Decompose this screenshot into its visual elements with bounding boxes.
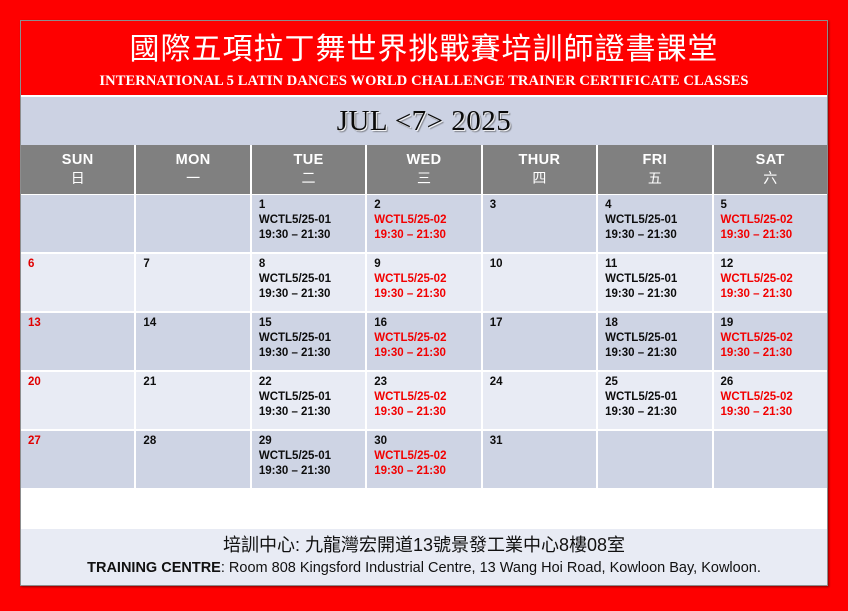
class-time: 19:30 – 21:30 [374, 228, 480, 243]
class-event[interactable]: WCTL5/25-0119:30 – 21:30 [605, 331, 711, 361]
class-event[interactable]: WCTL5/25-0219:30 – 21:30 [374, 449, 480, 479]
day-number: 27 [28, 434, 134, 449]
day-number: 23 [374, 375, 480, 390]
weekday-label-cn: 五 [648, 169, 662, 187]
class-time: 19:30 – 21:30 [374, 405, 480, 420]
calendar-weeks: 1WCTL5/25-0119:30 – 21:302WCTL5/25-0219:… [21, 195, 827, 490]
day-cell-13[interactable]: 13 [21, 313, 136, 372]
day-cell-10[interactable]: 10 [483, 254, 598, 313]
day-cell-23[interactable]: 23WCTL5/25-0219:30 – 21:30 [367, 372, 482, 431]
weekday-label-cn: 四 [532, 169, 546, 187]
day-cell-11[interactable]: 11WCTL5/25-0119:30 – 21:30 [598, 254, 713, 313]
calendar-week-row: 678WCTL5/25-0119:30 – 21:309WCTL5/25-021… [21, 254, 827, 313]
class-code: WCTL5/25-01 [605, 213, 711, 228]
day-cell-20[interactable]: 20 [21, 372, 136, 431]
day-number: 10 [490, 257, 596, 272]
day-cell-3[interactable]: 3 [483, 195, 598, 254]
day-cell-12[interactable]: 12WCTL5/25-0219:30 – 21:30 [714, 254, 827, 313]
day-cell-19[interactable]: 19WCTL5/25-0219:30 – 21:30 [714, 313, 827, 372]
day-number: 29 [259, 434, 365, 449]
day-cell-18[interactable]: 18WCTL5/25-0119:30 – 21:30 [598, 313, 713, 372]
day-number: 18 [605, 316, 711, 331]
day-number: 16 [374, 316, 480, 331]
weekday-label-cn: 日 [71, 169, 85, 187]
class-time: 19:30 – 21:30 [605, 346, 711, 361]
day-number: 21 [143, 375, 249, 390]
class-event[interactable]: WCTL5/25-0119:30 – 21:30 [605, 272, 711, 302]
day-cell-28[interactable]: 28 [136, 431, 251, 490]
day-cell-empty [21, 195, 136, 254]
day-number: 11 [605, 257, 711, 272]
day-number: 15 [259, 316, 365, 331]
weekday-header-wed: WED三 [367, 145, 482, 195]
day-number: 4 [605, 198, 711, 213]
month-label[interactable]: JUL <7> 2025 [337, 105, 512, 138]
day-number: 13 [28, 316, 134, 331]
class-event[interactable]: WCTL5/25-0219:30 – 21:30 [721, 331, 827, 361]
weekday-label-en: THUR [518, 152, 560, 169]
class-code: WCTL5/25-01 [259, 213, 365, 228]
day-cell-8[interactable]: 8WCTL5/25-0119:30 – 21:30 [252, 254, 367, 313]
calendar-week-row: 1WCTL5/25-0119:30 – 21:302WCTL5/25-0219:… [21, 195, 827, 254]
class-event[interactable]: WCTL5/25-0119:30 – 21:30 [259, 390, 365, 420]
class-code: WCTL5/25-02 [374, 390, 480, 405]
weekday-header-mon: MON一 [136, 145, 251, 195]
weekday-label-en: SUN [62, 152, 94, 169]
class-code: WCTL5/25-02 [374, 213, 480, 228]
class-event[interactable]: WCTL5/25-0119:30 – 21:30 [259, 449, 365, 479]
day-number: 14 [143, 316, 249, 331]
calendar-week-row: 131415WCTL5/25-0119:30 – 21:3016WCTL5/25… [21, 313, 827, 372]
class-time: 19:30 – 21:30 [374, 346, 480, 361]
class-code: WCTL5/25-01 [605, 331, 711, 346]
class-time: 19:30 – 21:30 [259, 405, 365, 420]
class-code: WCTL5/25-02 [721, 331, 827, 346]
weekday-header-fri: FRI五 [598, 145, 713, 195]
day-cell-4[interactable]: 4WCTL5/25-0119:30 – 21:30 [598, 195, 713, 254]
day-number: 25 [605, 375, 711, 390]
day-cell-24[interactable]: 24 [483, 372, 598, 431]
class-code: WCTL5/25-01 [605, 390, 711, 405]
calendar-week-row: 272829WCTL5/25-0119:30 – 21:3030WCTL5/25… [21, 431, 827, 490]
class-time: 19:30 – 21:30 [259, 464, 365, 479]
class-time: 19:30 – 21:30 [721, 346, 827, 361]
class-code: WCTL5/25-02 [721, 213, 827, 228]
poster-root: 國際五項拉丁舞世界挑戰賽培訓師證書課堂 INTERNATIONAL 5 LATI… [0, 0, 848, 611]
class-time: 19:30 – 21:30 [721, 287, 827, 302]
class-code: WCTL5/25-01 [259, 331, 365, 346]
footer: 培訓中心: 九龍灣宏開道13號景發工業中心8樓08室 TRAINING CENT… [21, 528, 827, 585]
day-number: 12 [721, 257, 827, 272]
day-number: 30 [374, 434, 480, 449]
class-event[interactable]: WCTL5/25-0119:30 – 21:30 [605, 390, 711, 420]
day-cell-25[interactable]: 25WCTL5/25-0119:30 – 21:30 [598, 372, 713, 431]
class-time: 19:30 – 21:30 [605, 405, 711, 420]
class-code: WCTL5/25-02 [374, 449, 480, 464]
banner-title-chinese: 國際五項拉丁舞世界挑戰賽培訓師證書課堂 [27, 31, 821, 69]
day-number: 17 [490, 316, 596, 331]
class-event[interactable]: WCTL5/25-0119:30 – 21:30 [605, 213, 711, 243]
weekday-label-cn: 三 [417, 169, 431, 187]
day-number: 24 [490, 375, 596, 390]
day-number: 1 [259, 198, 365, 213]
footer-address-english: TRAINING CENTRE: Room 808 Kingsford Indu… [27, 558, 821, 579]
day-number: 6 [28, 257, 134, 272]
footer-label: TRAINING CENTRE [87, 560, 221, 576]
day-cell-17[interactable]: 17 [483, 313, 598, 372]
weekday-label-en: MON [176, 152, 211, 169]
weekday-label-en: TUE [293, 152, 323, 169]
class-time: 19:30 – 21:30 [374, 464, 480, 479]
day-cell-31[interactable]: 31 [483, 431, 598, 490]
day-cell-22[interactable]: 22WCTL5/25-0119:30 – 21:30 [252, 372, 367, 431]
weekday-label-en: FRI [643, 152, 668, 169]
class-time: 19:30 – 21:30 [721, 405, 827, 420]
class-event[interactable]: WCTL5/25-0219:30 – 21:30 [374, 272, 480, 302]
weekday-header-thur: THUR四 [483, 145, 598, 195]
class-event[interactable]: WCTL5/25-0219:30 – 21:30 [374, 331, 480, 361]
weekday-header-row: SUN日MON一TUE二WED三THUR四FRI五SAT六 [21, 145, 827, 195]
class-code: WCTL5/25-02 [374, 272, 480, 287]
day-cell-26[interactable]: 26WCTL5/25-0219:30 – 21:30 [714, 372, 827, 431]
footer-address-text: : Room 808 Kingsford Industrial Centre, … [221, 560, 761, 576]
day-cell-7[interactable]: 7 [136, 254, 251, 313]
poster-inner-frame: 國際五項拉丁舞世界挑戰賽培訓師證書課堂 INTERNATIONAL 5 LATI… [20, 20, 828, 586]
weekday-header-tue: TUE二 [252, 145, 367, 195]
weekday-header-sat: SAT六 [714, 145, 827, 195]
class-event[interactable]: WCTL5/25-0219:30 – 21:30 [721, 272, 827, 302]
weekday-label-cn: 一 [186, 169, 200, 187]
day-number: 2 [374, 198, 480, 213]
day-cell-empty [714, 431, 827, 490]
month-band: JUL <7> 2025 [21, 95, 827, 145]
class-code: WCTL5/25-01 [259, 449, 365, 464]
class-time: 19:30 – 21:30 [259, 346, 365, 361]
banner-title-english: INTERNATIONAL 5 LATIN DANCES WORLD CHALL… [27, 71, 821, 91]
class-code: WCTL5/25-02 [721, 390, 827, 405]
day-cell-29[interactable]: 29WCTL5/25-0119:30 – 21:30 [252, 431, 367, 490]
day-cell-9[interactable]: 9WCTL5/25-0219:30 – 21:30 [367, 254, 482, 313]
day-number: 8 [259, 257, 365, 272]
class-code: WCTL5/25-01 [259, 390, 365, 405]
class-code: WCTL5/25-01 [605, 272, 711, 287]
class-event[interactable]: WCTL5/25-0219:30 – 21:30 [721, 213, 827, 243]
footer-address-chinese: 培訓中心: 九龍灣宏開道13號景發工業中心8樓08室 [27, 533, 821, 558]
class-event[interactable]: WCTL5/25-0219:30 – 21:30 [374, 213, 480, 243]
class-code: WCTL5/25-02 [721, 272, 827, 287]
weekday-label-en: SAT [756, 152, 785, 169]
class-time: 19:30 – 21:30 [259, 228, 365, 243]
class-event[interactable]: WCTL5/25-0119:30 – 21:30 [259, 213, 365, 243]
day-number: 7 [143, 257, 249, 272]
day-cell-2[interactable]: 2WCTL5/25-0219:30 – 21:30 [367, 195, 482, 254]
class-event[interactable]: WCTL5/25-0119:30 – 21:30 [259, 331, 365, 361]
day-number: 9 [374, 257, 480, 272]
day-cell-5[interactable]: 5WCTL5/25-0219:30 – 21:30 [714, 195, 827, 254]
day-number: 3 [490, 198, 596, 213]
weekday-header-sun: SUN日 [21, 145, 136, 195]
day-number: 31 [490, 434, 596, 449]
class-event[interactable]: WCTL5/25-0219:30 – 21:30 [721, 390, 827, 420]
class-time: 19:30 – 21:30 [374, 287, 480, 302]
class-time: 19:30 – 21:30 [605, 228, 711, 243]
class-time: 19:30 – 21:30 [721, 228, 827, 243]
day-cell-14[interactable]: 14 [136, 313, 251, 372]
day-number: 20 [28, 375, 134, 390]
weekday-label-cn: 二 [302, 169, 316, 187]
class-event[interactable]: WCTL5/25-0119:30 – 21:30 [259, 272, 365, 302]
day-cell-15[interactable]: 15WCTL5/25-0119:30 – 21:30 [252, 313, 367, 372]
class-event[interactable]: WCTL5/25-0219:30 – 21:30 [374, 390, 480, 420]
class-code: WCTL5/25-02 [374, 331, 480, 346]
day-cell-empty [598, 431, 713, 490]
title-banner: 國際五項拉丁舞世界挑戰賽培訓師證書課堂 INTERNATIONAL 5 LATI… [21, 21, 827, 95]
day-cell-21[interactable]: 21 [136, 372, 251, 431]
day-cell-empty [136, 195, 251, 254]
day-number: 22 [259, 375, 365, 390]
day-number: 28 [143, 434, 249, 449]
day-cell-27[interactable]: 27 [21, 431, 136, 490]
class-time: 19:30 – 21:30 [605, 287, 711, 302]
weekday-label-cn: 六 [763, 169, 777, 187]
class-code: WCTL5/25-01 [259, 272, 365, 287]
day-cell-16[interactable]: 16WCTL5/25-0219:30 – 21:30 [367, 313, 482, 372]
calendar-grid: SUN日MON一TUE二WED三THUR四FRI五SAT六 1WCTL5/25-… [21, 145, 827, 528]
class-time: 19:30 – 21:30 [259, 287, 365, 302]
day-cell-30[interactable]: 30WCTL5/25-0219:30 – 21:30 [367, 431, 482, 490]
day-number: 5 [721, 198, 827, 213]
calendar-week-row: 202122WCTL5/25-0119:30 – 21:3023WCTL5/25… [21, 372, 827, 431]
day-number: 19 [721, 316, 827, 331]
day-number: 26 [721, 375, 827, 390]
day-cell-6[interactable]: 6 [21, 254, 136, 313]
day-cell-1[interactable]: 1WCTL5/25-0119:30 – 21:30 [252, 195, 367, 254]
weekday-label-en: WED [406, 152, 441, 169]
